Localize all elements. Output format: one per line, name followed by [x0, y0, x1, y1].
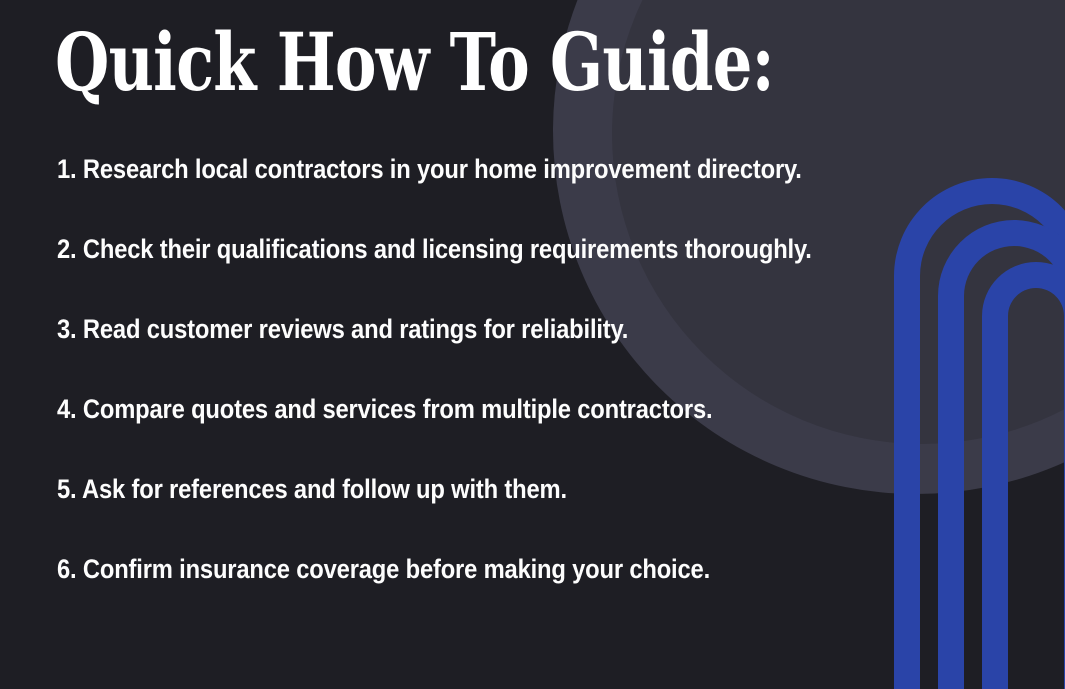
- list-item: 2. Check their qualifications and licens…: [57, 230, 831, 310]
- list-item: 5. Ask for references and follow up with…: [57, 470, 831, 550]
- list-item: 1. Research local contractors in your ho…: [57, 150, 831, 230]
- list-item: 4. Compare quotes and services from mult…: [57, 390, 831, 470]
- page-title: Quick How To Guide:: [55, 14, 774, 110]
- list-item: 6. Confirm insurance coverage before mak…: [57, 550, 831, 630]
- poster-content: Quick How To Guide: 1. Research local co…: [0, 0, 1065, 689]
- poster-canvas: Quick How To Guide: 1. Research local co…: [0, 0, 1065, 689]
- steps-list: 1. Research local contractors in your ho…: [57, 150, 937, 630]
- list-item: 3. Read customer reviews and ratings for…: [57, 310, 831, 390]
